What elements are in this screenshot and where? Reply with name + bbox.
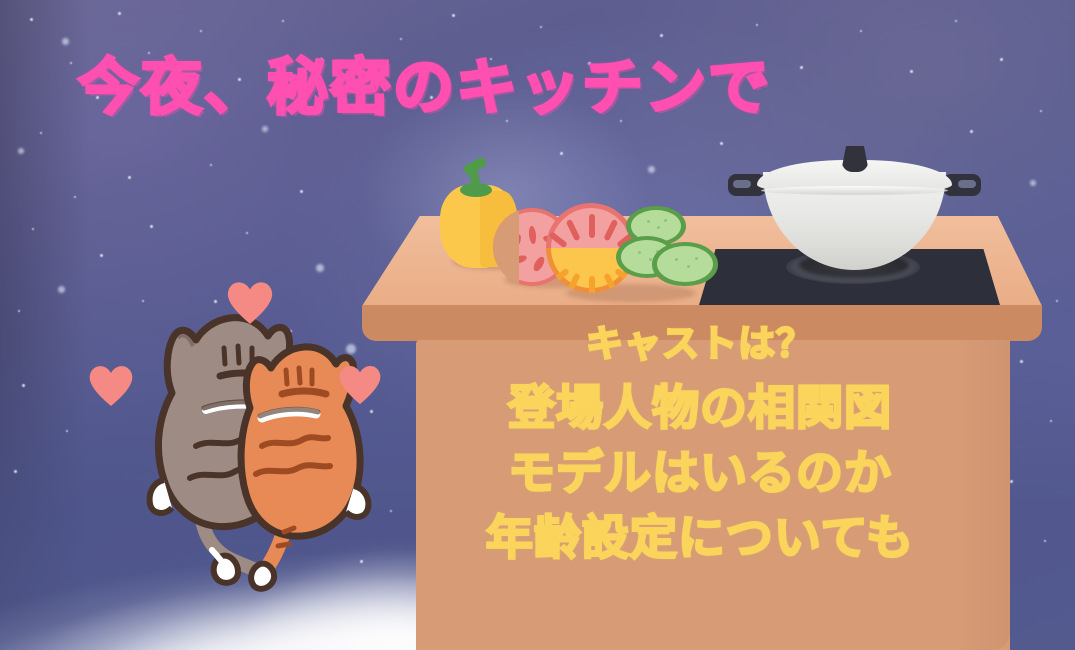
poster-title: 今夜、秘密のキッチンで bbox=[78, 57, 878, 118]
citrus-top-flesh bbox=[551, 208, 631, 250]
pot-lid-rim bbox=[761, 186, 948, 195]
citrus-top-half bbox=[546, 203, 636, 249]
subtitle-line-1: キャストは？ bbox=[400, 325, 1000, 363]
tomato-cut-face bbox=[493, 208, 519, 286]
pot-handle-hole-left bbox=[733, 180, 751, 188]
cooking-pot bbox=[757, 146, 952, 271]
heart-icon bbox=[86, 362, 136, 408]
subtitle-line-2: 登場人物の相関図 bbox=[400, 385, 1000, 433]
orange-cat-tail-tip bbox=[251, 564, 274, 589]
subtitle-block: キャストは？ 登場人物の相関図 モデルはいるのか 年齢設定についても bbox=[400, 325, 1000, 563]
heart-icon bbox=[336, 362, 384, 406]
cucumber-slice bbox=[652, 242, 718, 286]
pot-lid-knob bbox=[841, 146, 869, 172]
pot-handle-hole-right bbox=[958, 180, 976, 188]
subtitle-line-4: 年齢設定についても bbox=[400, 515, 1000, 563]
poster-canvas: 今夜、秘密のキッチンで キャストは？ 登場人物の相関図 モデルはいるのか 年齢設… bbox=[0, 0, 1075, 650]
heart-icon bbox=[224, 278, 276, 326]
subtitle-line-3: モデルはいるのか bbox=[400, 450, 1000, 498]
